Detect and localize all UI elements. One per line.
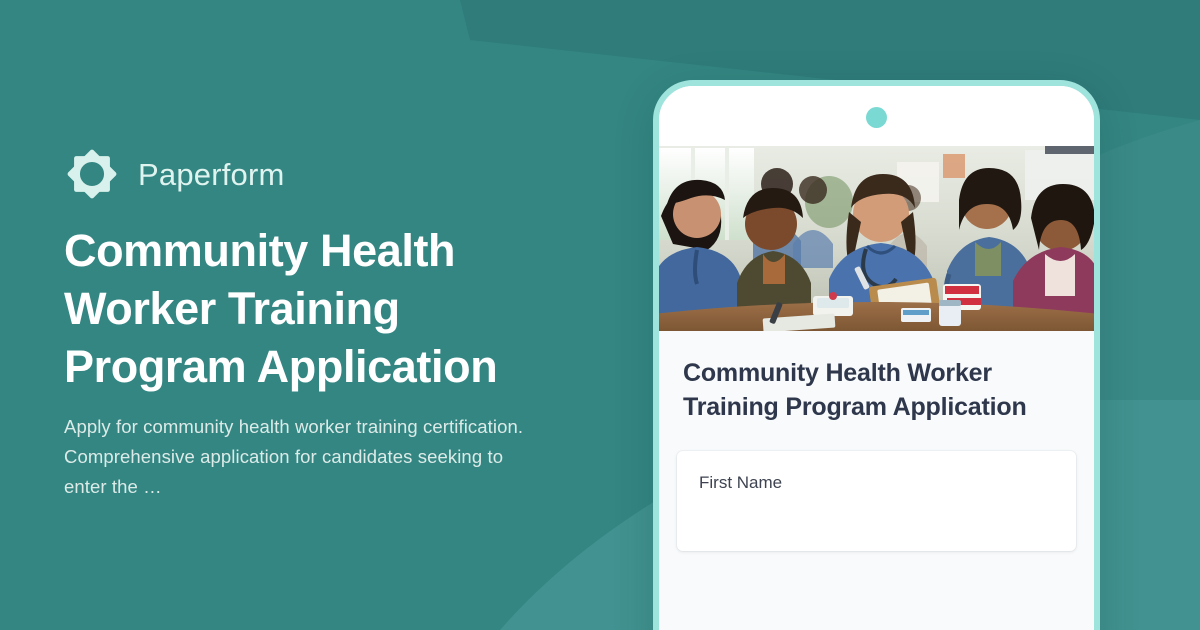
form-hero-image xyxy=(659,146,1094,331)
form-title: Community Health Worker Training Program… xyxy=(659,331,1094,425)
field-label-first-name: First Name xyxy=(699,473,1054,493)
left-content-column: Paperform Community Health Worker Traini… xyxy=(64,0,624,630)
paperform-logo-icon xyxy=(64,146,120,202)
phone-screen: Community Health Worker Training Program… xyxy=(659,146,1094,630)
brand-lockup: Paperform xyxy=(64,146,285,202)
phone-bezel xyxy=(659,86,1094,146)
form-field-first-name[interactable]: First Name xyxy=(677,451,1076,551)
phone-mockup: Community Health Worker Training Program… xyxy=(653,80,1100,630)
share-card-canvas: Paperform Community Health Worker Traini… xyxy=(0,0,1200,630)
page-title: Community Health Worker Training Program… xyxy=(64,222,584,396)
page-description: Apply for community health worker traini… xyxy=(64,412,524,502)
brand-name: Paperform xyxy=(138,159,285,190)
camera-dot-icon xyxy=(866,107,887,128)
